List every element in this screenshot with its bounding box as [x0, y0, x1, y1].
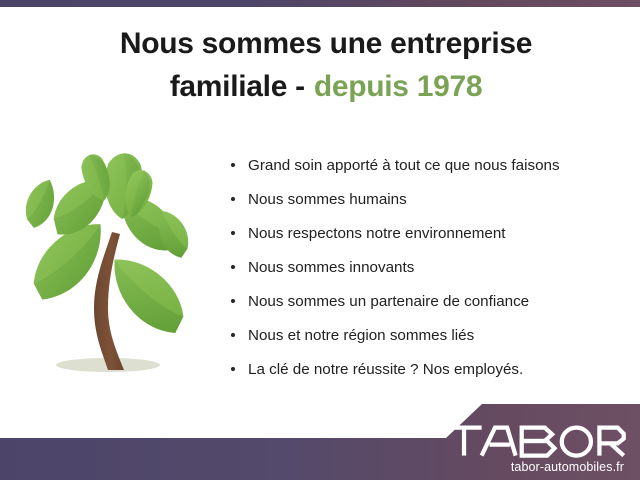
list-item-label: Nous sommes humains [248, 190, 407, 209]
list-item-label: Nous sommes innovants [248, 258, 414, 277]
list-item: La clé de notre réussite ? Nos employés. [228, 352, 628, 386]
slide-canvas: Nous sommes une entreprise familiale -de… [0, 0, 640, 480]
brand-url: tabor-automobiles.fr [444, 461, 624, 474]
list-item: Nous et notre région sommes liés [228, 318, 628, 352]
list-item-label: La clé de notre réussite ? Nos employés. [248, 360, 523, 379]
bullet-dot-icon [231, 367, 235, 371]
bullet-dot-icon [231, 163, 235, 167]
bullet-dot-icon [231, 299, 235, 303]
headline-line-2: familiale -depuis 1978 [46, 65, 606, 108]
list-item: Nous sommes innovants [228, 250, 628, 284]
list-item: Nous sommes un partenaire de confiance [228, 284, 628, 318]
bullet-dot-icon [231, 231, 235, 235]
page-title: Nous sommes une entreprise familiale -de… [46, 22, 606, 108]
brand-banner: tabor-automobiles.fr [0, 400, 640, 480]
top-accent-bar [0, 0, 640, 7]
list-item: Nous respectons notre environnement [228, 216, 628, 250]
bullet-dot-icon [231, 197, 235, 201]
banner-shape-path [0, 404, 640, 480]
bullet-dot-icon [231, 333, 235, 337]
list-item-label: Nous et notre région sommes liés [248, 326, 474, 345]
leaf-lower-right [97, 255, 195, 336]
tree-illustration [8, 152, 220, 390]
headline-accent: depuis 1978 [314, 70, 482, 103]
tabor-wordmark-icon [444, 424, 626, 458]
bullet-dot-icon [231, 265, 235, 269]
list-item-label: Nous respectons notre environnement [248, 224, 506, 243]
benefits-list: Grand soin apporté à tout ce que nous fa… [228, 148, 628, 386]
headline-line-2-prefix: familiale - [170, 70, 305, 103]
list-item: Grand soin apporté à tout ce que nous fa… [228, 148, 628, 182]
headline-line-1: Nous sommes une entreprise [46, 22, 606, 65]
list-item-label: Nous sommes un partenaire de confiance [248, 292, 529, 311]
list-item: Nous sommes humains [228, 182, 628, 216]
tree-trunk [94, 232, 124, 370]
list-item-label: Grand soin apporté à tout ce que nous fa… [248, 156, 560, 175]
brand-logo: tabor-automobiles.fr [444, 424, 626, 474]
